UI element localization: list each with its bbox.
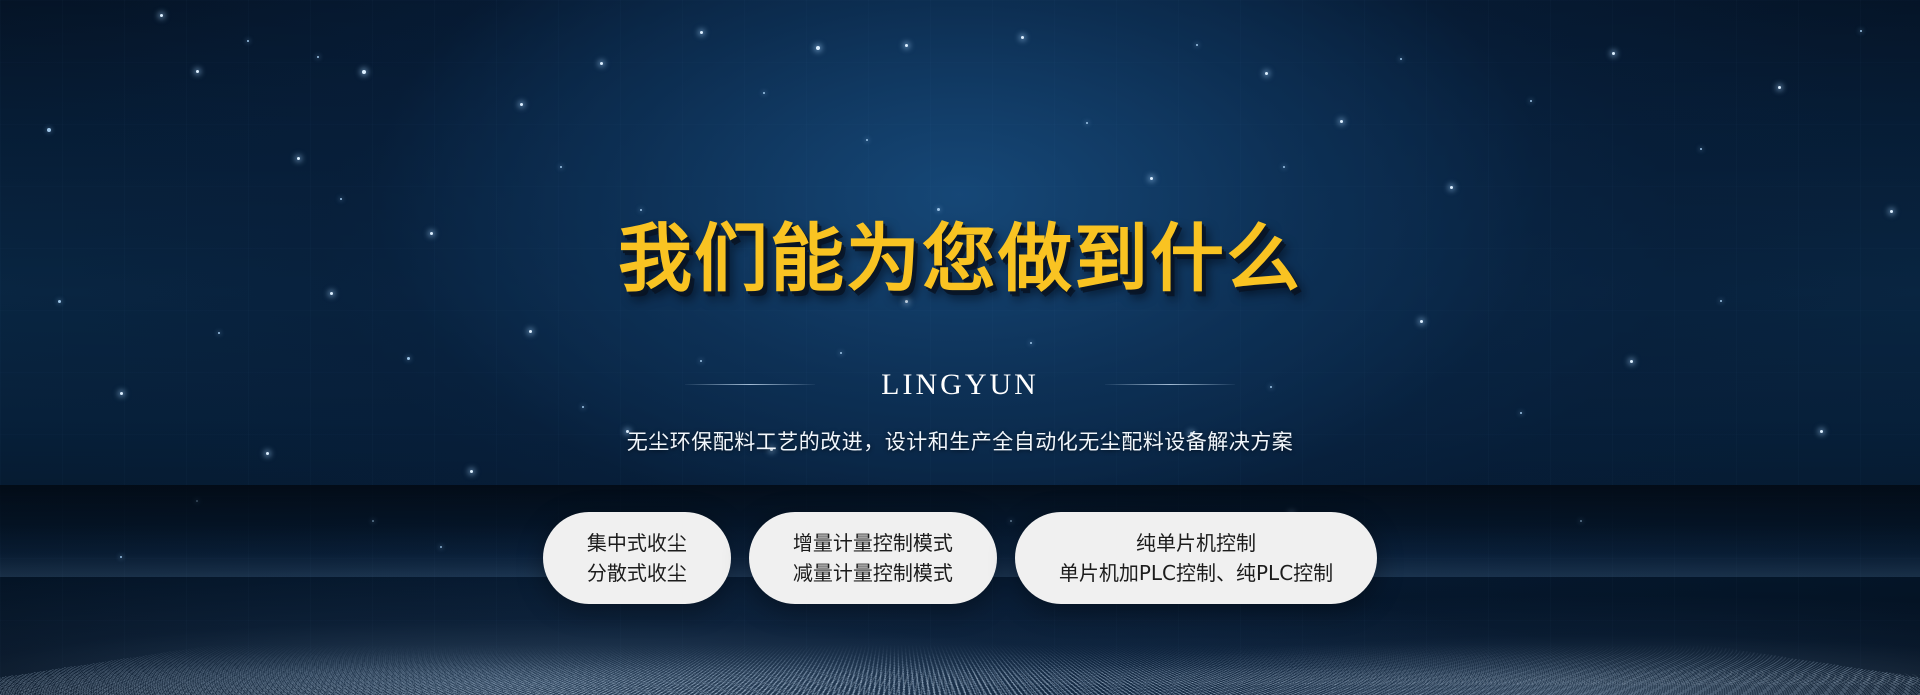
- feature-card-line-1: 纯单片机控制: [1136, 533, 1256, 553]
- brand-eyebrow-row: LINGYUN: [0, 368, 1920, 402]
- feature-card-line-1: 增量计量控制模式: [793, 533, 953, 553]
- page-title: 我们能为您做到什么: [618, 222, 1302, 296]
- feature-card-line-2: 分散式收尘: [587, 563, 687, 583]
- feature-card-line-2: 单片机加PLC控制、纯PLC控制: [1059, 563, 1333, 583]
- hero-content: 我们能为您做到什么 LINGYUN 无尘环保配料工艺的改进，设计和生产全自动化无…: [0, 0, 1920, 695]
- feature-card-line-2: 减量计量控制模式: [793, 563, 953, 583]
- hero-banner: 我们能为您做到什么 LINGYUN 无尘环保配料工艺的改进，设计和生产全自动化无…: [0, 0, 1920, 695]
- brand-name: LINGYUN: [881, 368, 1039, 402]
- feature-card-metering-mode[interactable]: 增量计量控制模式 减量计量控制模式: [749, 512, 997, 604]
- feature-card-control-system[interactable]: 纯单片机控制 单片机加PLC控制、纯PLC控制: [1015, 512, 1377, 604]
- feature-card-line-1: 集中式收尘: [587, 533, 687, 553]
- feature-card-list: 集中式收尘 分散式收尘 增量计量控制模式 减量计量控制模式 纯单片机控制 单片机…: [543, 512, 1377, 604]
- divider-line-left: [685, 384, 815, 385]
- feature-card-dust-collection[interactable]: 集中式收尘 分散式收尘: [543, 512, 731, 604]
- page-subtitle: 无尘环保配料工艺的改进，设计和生产全自动化无尘配料设备解决方案: [627, 426, 1294, 456]
- divider-line-right: [1105, 384, 1235, 385]
